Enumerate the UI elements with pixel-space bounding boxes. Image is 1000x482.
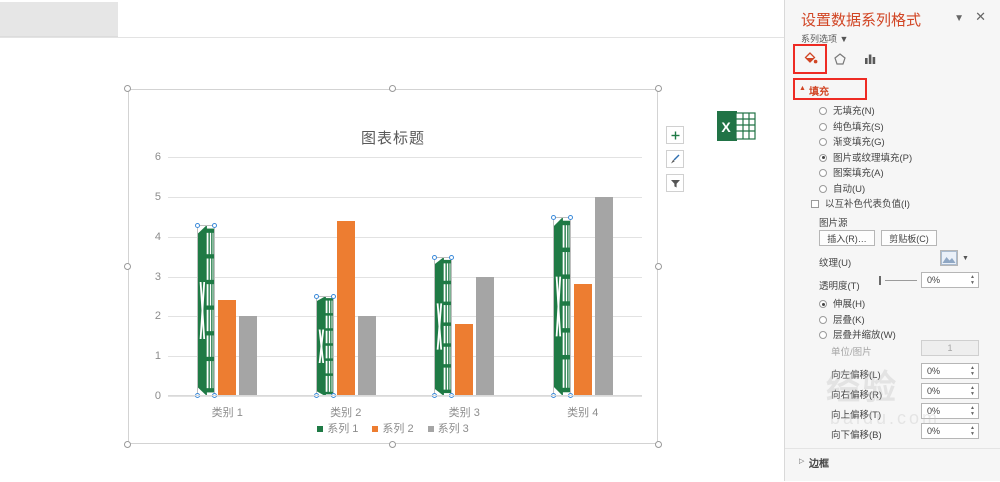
radio-button[interactable] — [819, 169, 827, 177]
chevron-down-icon[interactable]: ▼ — [954, 13, 964, 24]
slide-canvas[interactable]: X — [0, 37, 784, 482]
units-per-picture-field: 1 — [921, 340, 979, 356]
chart-bar[interactable] — [574, 284, 592, 396]
chart-filters-button[interactable] — [666, 174, 684, 192]
chart-bar[interactable] — [455, 324, 473, 396]
transparency-value-field[interactable]: 0% ▲▼ — [921, 272, 979, 288]
border-section-arrow-icon[interactable]: ▷ — [799, 457, 804, 465]
texture-dropdown-arrow-icon[interactable]: ▼ — [962, 255, 969, 262]
invert-if-negative-checkbox[interactable]: 以互补色代表负值(I) — [811, 196, 910, 210]
radio-button[interactable] — [819, 107, 827, 115]
resize-handle-top-center[interactable] — [389, 85, 396, 92]
offset-value: 0% — [927, 366, 940, 376]
legend-entry[interactable]: 系列 1 — [317, 423, 358, 435]
y-axis-tick-label: 6 — [155, 151, 161, 163]
legend-entry[interactable]: 系列 2 — [372, 423, 413, 435]
pane-divider — [785, 448, 1000, 449]
x-axis-category-label: 类别 3 — [405, 404, 524, 420]
radio-button[interactable] — [819, 331, 827, 339]
radio-button[interactable] — [819, 185, 827, 193]
chart-object[interactable]: 图表标题 0123456 类别 1类别 2类别 3类别 4 系列 1系列 2系列… — [128, 89, 658, 444]
pane-icon-tabs — [799, 48, 899, 72]
units-per-picture-label: 单位/图片 — [831, 344, 872, 358]
option-label: 自动(U) — [833, 184, 865, 195]
insert-picture-button[interactable]: 插入(R)… — [819, 230, 875, 246]
spinner-arrows-icon[interactable]: ▲▼ — [969, 274, 976, 287]
legend-label: 系列 3 — [438, 423, 469, 435]
transparency-slider[interactable] — [879, 276, 917, 286]
slider-knob[interactable] — [879, 276, 881, 285]
chart-bar[interactable] — [218, 300, 236, 396]
y-axis-tick-label: 0 — [155, 390, 161, 402]
chart-legend[interactable]: 系列 1系列 2系列 3 — [128, 420, 658, 436]
legend-swatch — [372, 426, 378, 432]
radio-button[interactable] — [819, 316, 827, 324]
spinner-arrows-icon[interactable]: ▲▼ — [969, 425, 976, 438]
chart-category-group: 类别 4 — [524, 157, 643, 396]
y-axis-tick-label: 5 — [155, 191, 161, 203]
format-data-series-pane: 设置数据系列格式 ▼ ✕ 系列选项 ▼ ▲ — [784, 0, 1000, 481]
paint-bucket-icon — [803, 52, 818, 67]
funnel-icon — [670, 178, 681, 189]
pane-title: 设置数据系列格式 — [801, 9, 921, 30]
picture-icon — [941, 251, 957, 265]
chart-category-group: 类别 2 — [287, 157, 406, 396]
units-value: 1 — [947, 343, 952, 353]
radio-button[interactable] — [819, 123, 827, 131]
chart-bar[interactable] — [197, 225, 215, 396]
bar-chart-icon — [863, 52, 877, 66]
offset-value: 0% — [927, 426, 940, 436]
chart-bar[interactable] — [337, 221, 355, 396]
option-label: 图案填充(A) — [833, 168, 884, 179]
x-axis-category-label: 类别 1 — [168, 404, 287, 420]
chart-bar[interactable] — [553, 217, 571, 396]
fill-option-3[interactable]: 渐变填充(G) — [819, 134, 885, 148]
radio-button[interactable] — [819, 300, 827, 308]
chart-bar[interactable] — [239, 316, 257, 396]
chart-bar[interactable] — [316, 296, 334, 396]
slider-track — [885, 280, 917, 281]
texture-label: 纹理(U) — [819, 255, 851, 269]
x-axis-category-label: 类别 4 — [524, 404, 643, 420]
legend-swatch — [317, 426, 323, 432]
excel-icon[interactable]: X — [715, 108, 757, 144]
legend-swatch — [428, 426, 434, 432]
option-label: 图片或纹理填充(P) — [833, 153, 912, 164]
offset-label-4: 向下偏移(B) — [831, 427, 882, 441]
ribbon-strip — [0, 2, 118, 37]
fill-option-6[interactable]: 自动(U) — [819, 181, 865, 195]
offset-label-1: 向左偏移(L) — [831, 367, 881, 381]
y-axis-tick-label: 3 — [155, 271, 161, 283]
resize-handle-bottom-left[interactable] — [124, 441, 131, 448]
fill-option-2[interactable]: 纯色填充(S) — [819, 119, 884, 133]
fill-option-5[interactable]: 图案填充(A) — [819, 165, 884, 179]
chart-category-axis-line — [168, 395, 642, 396]
y-axis-tick-label: 1 — [155, 350, 161, 362]
spinner-arrows-icon[interactable]: ▲▼ — [969, 385, 976, 398]
chart-plot-area[interactable]: 0123456 类别 1类别 2类别 3类别 4 — [168, 157, 642, 396]
fill-option-4[interactable]: 图片或纹理填充(P) — [819, 150, 912, 164]
resize-handle-bottom-right[interactable] — [655, 441, 662, 448]
pentagon-icon — [833, 52, 847, 66]
fill-section-label: 填充 — [809, 83, 829, 98]
clipboard-button[interactable]: 剪贴板(C) — [881, 230, 937, 246]
slide-editor-area: X — [0, 0, 784, 481]
checkbox-box — [811, 200, 819, 208]
spinner-arrows-icon[interactable]: ▲▼ — [969, 405, 976, 418]
y-axis-tick-label: 4 — [155, 231, 161, 243]
border-section-header[interactable]: 边框 — [809, 455, 829, 470]
transparency-value: 0% — [927, 275, 940, 285]
y-axis-tick-label: 2 — [155, 310, 161, 322]
resize-handle-bottom-center[interactable] — [389, 441, 396, 448]
option-label: 层叠(K) — [833, 315, 865, 326]
legend-entry[interactable]: 系列 3 — [428, 423, 469, 435]
chart-category-group: 类别 3 — [405, 157, 524, 396]
chart-title[interactable]: 图表标题 — [128, 127, 658, 148]
paintbrush-icon — [669, 153, 681, 165]
close-icon[interactable]: ✕ — [975, 9, 986, 25]
section-expand-arrow-icon[interactable]: ▲ — [799, 85, 806, 92]
picture-source-label: 图片源 — [819, 215, 848, 229]
chart-bar[interactable] — [358, 316, 376, 396]
legend-label: 系列 1 — [327, 423, 358, 435]
gridline — [168, 396, 642, 397]
effects-tab[interactable] — [829, 48, 851, 70]
offset-label-3: 向上偏移(T) — [831, 407, 881, 421]
invert-label: 以互补色代表负值(I) — [825, 199, 910, 210]
svg-text:X: X — [721, 119, 731, 135]
add-chart-element-button[interactable] — [666, 126, 684, 144]
tiling-option-1[interactable]: 伸展(H) — [819, 296, 865, 310]
pane-title-row: 设置数据系列格式 ▼ ✕ — [785, 6, 1000, 32]
legend-label: 系列 2 — [382, 423, 413, 435]
offset-label-2: 向右偏移(R) — [831, 387, 882, 401]
option-label: 无填充(N) — [833, 106, 875, 117]
chart-bar[interactable] — [595, 197, 613, 396]
chart-side-buttons — [666, 126, 684, 198]
fill-section-header[interactable]: ▲ 填充 — [799, 82, 1000, 98]
tiling-option-3[interactable]: 层叠并缩放(W) — [819, 327, 896, 341]
tiling-option-2[interactable]: 层叠(K) — [819, 312, 865, 326]
fill-option-1[interactable]: 无填充(N) — [819, 103, 875, 117]
resize-handle-middle-right[interactable] — [655, 263, 662, 270]
x-axis-category-label: 类别 2 — [287, 404, 406, 420]
option-label: 纯色填充(S) — [833, 122, 884, 133]
chart-category-group: 类别 1 — [168, 157, 287, 396]
offset-field-3[interactable]: 0%▲▼ — [921, 403, 979, 419]
option-label: 层叠并缩放(W) — [833, 330, 896, 341]
radio-button[interactable] — [819, 138, 827, 146]
transparency-label: 透明度(T) — [819, 278, 860, 292]
radio-button[interactable] — [819, 154, 827, 162]
offset-field-2[interactable]: 0%▲▼ — [921, 383, 979, 399]
chart-styles-button[interactable] — [666, 150, 684, 168]
option-label: 渐变填充(G) — [833, 137, 885, 148]
offset-field-1[interactable]: 0%▲▼ — [921, 363, 979, 379]
offset-value: 0% — [927, 406, 940, 416]
chart-bar[interactable] — [434, 257, 452, 396]
chart-bar[interactable] — [476, 277, 494, 397]
resize-handle-middle-left[interactable] — [124, 263, 131, 270]
fill-tab[interactable] — [799, 48, 821, 70]
resize-handle-top-right[interactable] — [655, 85, 662, 92]
option-label: 伸展(H) — [833, 299, 865, 310]
resize-handle-top-left[interactable] — [124, 85, 131, 92]
plus-icon — [670, 130, 681, 141]
offset-value: 0% — [927, 386, 940, 396]
spinner-arrows-icon[interactable]: ▲▼ — [969, 365, 976, 378]
offset-field-4[interactable]: 0%▲▼ — [921, 423, 979, 439]
series-options-tab[interactable] — [859, 48, 881, 70]
texture-preview-swatch[interactable] — [940, 250, 958, 266]
